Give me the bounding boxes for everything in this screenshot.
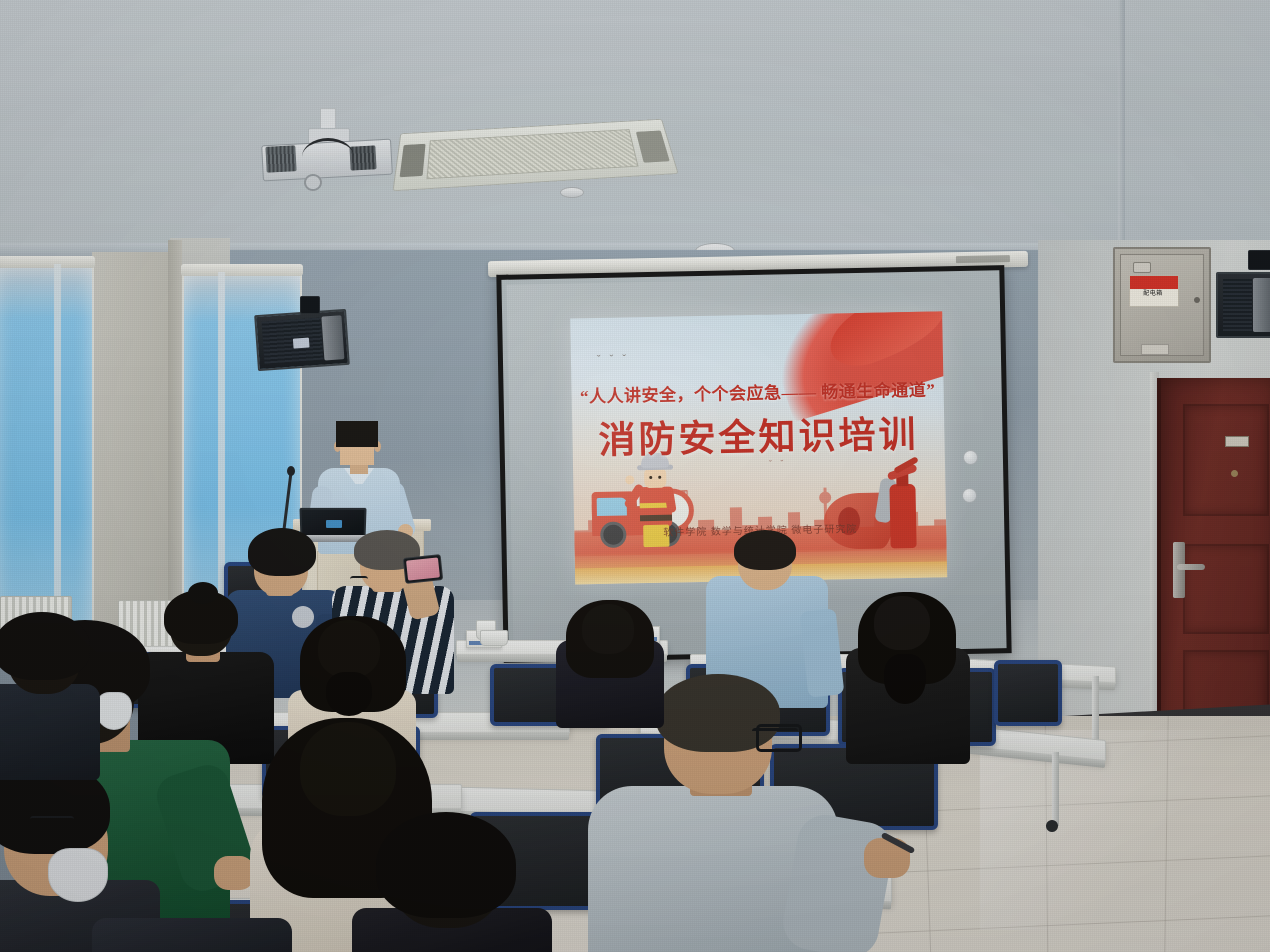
glasses-icon [350, 576, 368, 585]
truck-window [597, 497, 627, 516]
presenter-laptop[interactable] [300, 508, 364, 542]
smoke-detector-icon [560, 187, 584, 198]
panel-knob-icon[interactable] [1194, 297, 1200, 303]
screen-control-dot[interactable] [962, 488, 977, 503]
projector-vent-icon [265, 145, 296, 173]
slide-subtitle: “人人讲安全，个个会应急—— 畅通生命通道” [571, 375, 943, 407]
ceiling-beam [1118, 0, 1125, 250]
attendee-head [300, 722, 396, 816]
attendee-torso [0, 684, 100, 780]
firefighter-eye [658, 476, 661, 479]
attendee-ponytail [326, 672, 372, 716]
speaker-grille [1223, 279, 1252, 331]
paper-cup [480, 630, 508, 646]
speaker-side-panel [321, 315, 344, 360]
attendee-hair [0, 612, 90, 680]
microphone-icon [287, 466, 295, 476]
ac-vent [636, 130, 670, 162]
glasses-icon [30, 816, 74, 825]
surveillance-camera-icon [1248, 250, 1270, 270]
desk-caster [1046, 820, 1058, 832]
attendee-head [582, 604, 634, 654]
mobile-phone[interactable] [403, 554, 444, 584]
firefighter-belt [640, 515, 672, 522]
firefighter-hand [625, 475, 634, 484]
window-mullion [54, 264, 61, 652]
slide-birds-icon: ˇ ˇ [769, 458, 819, 477]
laptop-screen-content [326, 520, 342, 528]
attendee-ponytail [884, 654, 926, 704]
firefighter-eye [649, 476, 652, 479]
ceiling-projector [258, 108, 398, 184]
slide-birds-icon: ˇ ˇ ˇ [597, 353, 653, 376]
electrical-distribution-box[interactable]: 配电箱 [1113, 247, 1211, 363]
hair-bun [188, 582, 218, 604]
door-panel [1183, 404, 1269, 516]
attendee-head [874, 596, 930, 650]
attendee-hand [214, 856, 254, 890]
classroom-photo-scene: 配电箱 ˇ ˇ ˇ [0, 0, 1270, 952]
shoulder-badge [292, 606, 314, 628]
extinguisher-body [889, 484, 916, 548]
attendee-hair [248, 528, 316, 576]
desk-leg [1052, 752, 1059, 826]
screen-brand-logo [956, 255, 1010, 263]
phone-screen [406, 557, 440, 580]
slide-title: 消防安全知识培训 [572, 403, 945, 464]
roller-blind[interactable] [181, 264, 303, 276]
screen-control-dot[interactable] [963, 450, 978, 465]
face-mask-icon [48, 848, 108, 902]
ac-vent [400, 144, 426, 177]
door-lock-plate[interactable] [1173, 542, 1185, 598]
surveillance-camera-icon [300, 296, 320, 314]
wall-speaker-left [254, 309, 350, 371]
panel-vent [1141, 344, 1169, 355]
projector-vent-icon [349, 145, 376, 170]
panel-label-text: 配电箱 [1129, 288, 1177, 300]
roller-blind[interactable] [0, 256, 95, 268]
attendee-hair [376, 812, 516, 918]
firefighter-face [644, 468, 666, 488]
floor-reflection [980, 730, 1270, 930]
speaker-side-panel [1253, 278, 1270, 332]
classroom-door[interactable] [1157, 378, 1270, 756]
wall-speaker-right [1216, 272, 1270, 338]
chair[interactable] [994, 660, 1062, 726]
glasses-lens-icon [756, 724, 802, 752]
panel-latch-icon[interactable] [1133, 262, 1151, 273]
door-handle-icon[interactable] [1177, 564, 1205, 570]
attendee-head [318, 620, 380, 678]
wall-pier [92, 252, 170, 652]
door-peephole-icon [1231, 470, 1238, 477]
door-panel [1183, 544, 1269, 634]
attendee-torso [92, 918, 292, 952]
speaker-logo [293, 337, 310, 348]
door-plate [1225, 436, 1249, 447]
attendee-hair [734, 530, 796, 570]
presenter-hair [336, 421, 378, 447]
face-mask-icon [96, 692, 132, 730]
ac-grille [426, 129, 638, 179]
